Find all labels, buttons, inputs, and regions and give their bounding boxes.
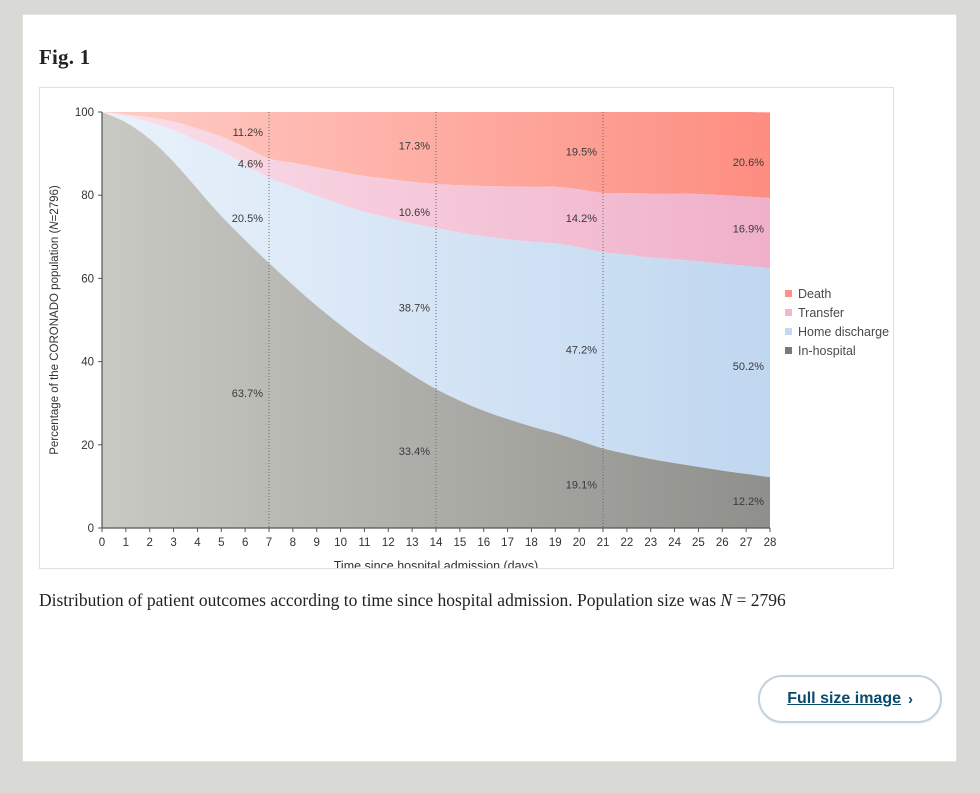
chevron-right-icon: ›	[908, 691, 913, 708]
y-tick-label: 20	[81, 440, 94, 452]
x-tick-label: 23	[644, 537, 657, 549]
y-tick-label: 60	[81, 273, 94, 285]
y-tick-label: 40	[81, 357, 94, 369]
legend-item-death: Death	[785, 284, 889, 303]
data-label: 38.7%	[399, 303, 430, 315]
x-tick-label: 10	[334, 537, 347, 549]
legend-item-home-discharge: Home discharge	[785, 322, 889, 341]
x-tick-label: 9	[314, 537, 320, 549]
y-tick-label: 0	[88, 523, 94, 535]
data-label: 17.3%	[399, 140, 430, 152]
x-tick-label: 3	[170, 537, 176, 549]
x-tick-label: 20	[573, 537, 586, 549]
full-size-image-button[interactable]: Full size image ›	[758, 675, 942, 723]
data-label: 20.6%	[733, 157, 764, 169]
x-tick-label: 12	[382, 537, 395, 549]
chart-legend: DeathTransferHome dischargeIn-hospital	[785, 284, 889, 360]
figure-caption: Distribution of patient outcomes accordi…	[39, 585, 939, 616]
caption-text-1: Distribution of patient outcomes accordi…	[39, 590, 720, 610]
legend-label: Home discharge	[798, 325, 889, 339]
legend-label: Transfer	[798, 306, 844, 320]
x-tick-label: 18	[525, 537, 538, 549]
legend-label: Death	[798, 287, 831, 301]
y-axis-title: Percentage of the CORONADO population (N…	[49, 185, 61, 455]
x-tick-label: 22	[620, 537, 633, 549]
data-label: 4.6%	[238, 159, 263, 171]
legend-item-transfer: Transfer	[785, 303, 889, 322]
data-label: 19.5%	[566, 147, 597, 159]
data-label: 11.2%	[233, 127, 264, 139]
x-tick-label: 13	[406, 537, 419, 549]
x-tick-label: 8	[290, 537, 296, 549]
x-axis-title: Time since hospital admission (days)	[334, 559, 538, 568]
x-tick-label: 15	[453, 537, 466, 549]
x-tick-label: 7	[266, 537, 272, 549]
x-tick-label: 16	[477, 537, 490, 549]
data-label: 14.2%	[566, 213, 597, 225]
y-tick-label: 80	[81, 190, 94, 202]
x-tick-label: 6	[242, 537, 248, 549]
data-label: 16.9%	[733, 224, 764, 236]
x-tick-label: 19	[549, 537, 562, 549]
y-tick-label: 100	[75, 107, 94, 119]
caption-italic-n: N	[720, 590, 732, 610]
data-label: 50.2%	[733, 361, 764, 373]
legend-swatch-icon	[785, 290, 792, 297]
figure-card: Fig. 1 020406080100012345678910111213141…	[22, 14, 957, 762]
data-label: 19.1%	[566, 479, 597, 491]
x-tick-label: 11	[358, 537, 370, 549]
x-tick-label: 4	[194, 537, 201, 549]
figure-number: Fig. 1	[39, 45, 90, 70]
legend-item-in-hospital: In-hospital	[785, 341, 889, 360]
full-size-image-label: Full size image	[787, 690, 901, 708]
x-tick-label: 26	[716, 537, 729, 549]
legend-label: In-hospital	[798, 344, 856, 358]
data-label: 47.2%	[566, 344, 597, 356]
x-tick-label: 21	[597, 537, 610, 549]
x-tick-label: 2	[147, 537, 153, 549]
legend-swatch-icon	[785, 328, 792, 335]
full-size-image-row: Full size image ›	[39, 675, 942, 723]
caption-text-2: = 2796	[732, 590, 786, 610]
x-tick-label: 1	[123, 537, 129, 549]
x-tick-label: 14	[430, 537, 443, 549]
x-tick-label: 24	[668, 537, 681, 549]
stacked-area-chart: 0204060801000123456789101112131415161718…	[40, 88, 893, 568]
x-tick-label: 25	[692, 537, 705, 549]
data-label: 63.7%	[232, 388, 263, 400]
data-label: 12.2%	[733, 496, 764, 508]
legend-swatch-icon	[785, 347, 792, 354]
legend-swatch-icon	[785, 309, 792, 316]
data-label: 20.5%	[232, 213, 263, 225]
x-tick-label: 17	[501, 537, 514, 549]
x-tick-label: 5	[218, 537, 224, 549]
x-tick-label: 28	[764, 537, 777, 549]
x-tick-label: 27	[740, 537, 753, 549]
data-label: 33.4%	[399, 446, 430, 458]
chart-container: 0204060801000123456789101112131415161718…	[39, 87, 894, 569]
x-tick-label: 0	[99, 537, 105, 549]
data-label: 10.6%	[399, 207, 430, 219]
